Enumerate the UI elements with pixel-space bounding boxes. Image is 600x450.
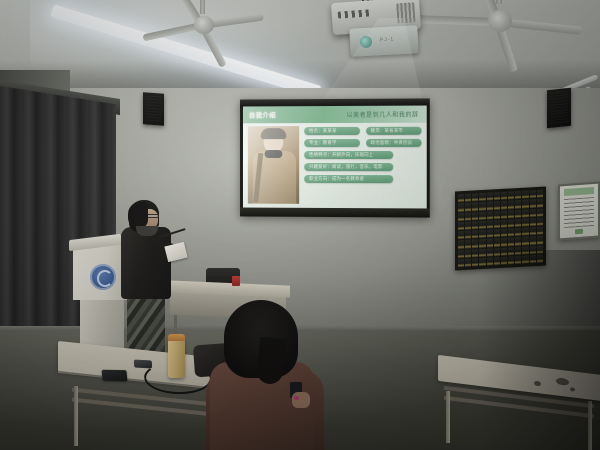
key-slot[interactable] [515, 200, 521, 209]
desk-rail [444, 396, 594, 418]
key-slot[interactable] [479, 248, 485, 257]
key-slot[interactable] [508, 210, 514, 219]
key-slot[interactable] [530, 190, 536, 199]
key-slot[interactable] [530, 236, 536, 245]
projector-vent [396, 2, 415, 23]
key-slot[interactable] [472, 221, 478, 230]
slide-pill: 籍贯：某省某市 [366, 127, 422, 135]
key-slot[interactable] [479, 221, 485, 230]
key-slot[interactable] [494, 248, 500, 257]
key-slot[interactable] [501, 219, 507, 228]
desk-leg [588, 401, 592, 450]
key-slot[interactable] [522, 246, 528, 255]
key-slot[interactable] [508, 191, 514, 200]
key-slot[interactable] [472, 230, 478, 239]
key-slot[interactable] [522, 255, 528, 264]
key-slot[interactable] [508, 228, 514, 237]
smartphone[interactable] [102, 370, 128, 381]
key-slot[interactable] [508, 237, 514, 246]
key-slot[interactable] [537, 245, 543, 254]
key-slot[interactable] [537, 236, 543, 245]
key-slot[interactable] [487, 229, 493, 238]
key-slot[interactable] [465, 231, 471, 240]
key-slot[interactable] [522, 200, 528, 209]
key-slot[interactable] [487, 220, 493, 229]
bottle-cap[interactable] [168, 334, 185, 341]
pill-row: 姓名：某某某 籍贯：某省某市 [304, 127, 422, 139]
slide-bullet-pills: 姓名：某某某 籍贯：某省某市 专业：教育学 政治面貌：共青团员 性格特点：开朗外… [304, 127, 422, 206]
certificate-text-lines [564, 197, 594, 228]
key-slot[interactable] [537, 254, 543, 263]
key-slot[interactable] [501, 201, 507, 210]
university-crest-icon [90, 264, 116, 290]
slide-pill: 姓名：某某某 [304, 127, 359, 135]
key-slot[interactable] [530, 199, 536, 208]
key-slot[interactable] [494, 238, 500, 247]
key-slot[interactable] [487, 202, 493, 211]
key-slot[interactable] [494, 211, 500, 220]
projector-buttons[interactable] [338, 9, 372, 18]
key-slot[interactable] [537, 217, 543, 226]
key-storage-board[interactable] [455, 186, 546, 270]
key-slot[interactable] [537, 227, 543, 236]
speaker-grill [550, 91, 568, 125]
pill-row: 专业：教育学 政治面貌：共青团员 [304, 139, 422, 151]
slide-pill: 性格特点：开朗外向，乐观向上 [304, 151, 393, 159]
key-slot[interactable] [465, 212, 471, 221]
desk-stain [556, 377, 569, 386]
key-slot[interactable] [465, 221, 471, 230]
red-cup[interactable] [232, 276, 240, 286]
seated-audience-member [206, 300, 324, 450]
projector-label: PJ-1 [380, 36, 395, 43]
projection-screen: 自我介绍 以美者是到几人和我的辞 姓名：某某某 籍贯：某省某市 专业：教育学 [240, 98, 430, 217]
fan-hub [488, 10, 512, 32]
key-slot[interactable] [515, 209, 521, 218]
key-slot[interactable] [472, 193, 478, 202]
key-slot[interactable] [487, 239, 493, 248]
key-slot[interactable] [458, 259, 464, 268]
key-slot[interactable] [472, 202, 478, 211]
presentation-slide: 自我介绍 以美者是到几人和我的辞 姓名：某某某 籍贯：某省某市 专业：教育学 [243, 106, 427, 209]
key-slot[interactable] [465, 194, 471, 203]
key-slot[interactable] [479, 211, 485, 220]
key-slot[interactable] [458, 250, 464, 259]
key-slot[interactable] [501, 192, 507, 201]
key-slot[interactable] [465, 203, 471, 212]
key-slot[interactable] [494, 192, 500, 201]
key-slot[interactable] [515, 191, 521, 200]
fan-blade [412, 15, 498, 26]
key-slot[interactable] [479, 239, 485, 248]
projector-lens-icon [360, 36, 373, 49]
key-slot[interactable] [515, 228, 521, 237]
slide-subtitle: 以美者是到几人和我的辞 [346, 110, 418, 119]
portrait-scarf [265, 150, 283, 158]
presenter-jacket [121, 227, 171, 299]
key-slot[interactable] [465, 258, 471, 267]
key-slot[interactable] [501, 256, 507, 265]
key-slot[interactable] [501, 229, 507, 238]
key-slot[interactable] [515, 246, 521, 255]
projector-body: PJ-1 [349, 25, 418, 57]
key-slot[interactable] [522, 237, 528, 246]
desk-leg [74, 386, 78, 446]
small-device[interactable] [134, 360, 152, 369]
key-slot[interactable] [508, 200, 514, 209]
speaker-grill [146, 95, 161, 122]
key-slot[interactable] [465, 240, 471, 249]
key-slot[interactable] [515, 256, 521, 265]
framed-certificate [558, 182, 600, 241]
key-slot[interactable] [458, 203, 464, 212]
key-slot[interactable] [508, 256, 514, 265]
key-slot[interactable] [530, 218, 536, 227]
right-desk[interactable] [438, 365, 600, 450]
wall-speaker-left [143, 92, 164, 125]
portrait-hat [261, 128, 287, 139]
fan-rod [496, 0, 502, 4]
slide-pill: 职业方向：成为一名教育者 [304, 175, 393, 183]
key-slot[interactable] [465, 249, 471, 258]
screen-bottom-bar [240, 208, 430, 218]
key-slot[interactable] [487, 248, 493, 257]
key-slot[interactable] [494, 257, 500, 266]
key-slot[interactable] [479, 193, 485, 202]
slide-pill: 兴趣爱好：阅读，旅行，音乐，电影 [304, 163, 393, 171]
key-slot[interactable] [494, 220, 500, 229]
key-slot[interactable] [487, 257, 493, 266]
key-slot[interactable] [458, 213, 464, 222]
key-slot[interactable] [501, 210, 507, 219]
key-slot[interactable] [487, 192, 493, 201]
audience-hand [292, 392, 310, 408]
key-slot[interactable] [537, 190, 543, 199]
key-slot[interactable] [458, 231, 464, 240]
key-slot[interactable] [501, 238, 507, 247]
key-slot[interactable] [530, 246, 536, 255]
key-slot[interactable] [479, 230, 485, 239]
key-slot[interactable] [508, 247, 514, 256]
key-slot[interactable] [472, 249, 478, 258]
classroom-scene: PJ-1 自我介绍 以美者是到几人和我的辞 姓名：某某某 [0, 0, 600, 450]
desk-stain [534, 381, 541, 387]
key-slot[interactable] [472, 212, 478, 221]
key-slot[interactable] [472, 258, 478, 267]
key-slot[interactable] [479, 202, 485, 211]
phone-screen-glow [294, 396, 299, 400]
key-slot[interactable] [530, 227, 536, 236]
key-slot[interactable] [522, 209, 528, 218]
key-slot[interactable] [479, 258, 485, 267]
fan-rod [200, 0, 205, 14]
key-slot[interactable] [537, 208, 543, 217]
slide-pill: 专业：教育学 [304, 139, 359, 147]
key-slot[interactable] [508, 219, 514, 228]
key-slot[interactable] [522, 227, 528, 236]
slide-title: 自我介绍 [249, 109, 276, 119]
key-slot[interactable] [522, 218, 528, 227]
certificate-header-band [564, 187, 594, 196]
key-slot[interactable] [537, 199, 543, 208]
desk-leg [446, 391, 450, 443]
wall-speaker-right [547, 88, 571, 129]
key-slot[interactable] [522, 190, 528, 199]
desk-stain [570, 387, 575, 392]
key-slot[interactable] [515, 219, 521, 228]
thermos-bottle[interactable] [168, 338, 185, 378]
key-slot[interactable] [494, 201, 500, 210]
key-slot[interactable] [458, 222, 464, 231]
ceiling-fan-left [146, 6, 266, 56]
key-slot[interactable] [515, 237, 521, 246]
key-slot[interactable] [530, 255, 536, 264]
key-slot[interactable] [458, 240, 464, 249]
key-slot[interactable] [494, 229, 500, 238]
fan-hub [194, 16, 214, 34]
key-slot[interactable] [472, 239, 478, 248]
key-slot[interactable] [487, 211, 493, 220]
key-slot[interactable] [530, 209, 536, 218]
slide-portrait-photo [248, 126, 299, 204]
key-slot[interactable] [501, 247, 507, 256]
certificate-seal [575, 229, 583, 235]
presenter-hair-front [128, 202, 148, 228]
slide-pill: 政治面貌：共青团员 [366, 139, 422, 147]
ceiling-fan-right [420, 0, 590, 54]
screen-surface: 自我介绍 以美者是到几人和我的辞 姓名：某某某 籍贯：某省某市 专业：教育学 [243, 106, 427, 209]
key-slot[interactable] [458, 194, 464, 203]
